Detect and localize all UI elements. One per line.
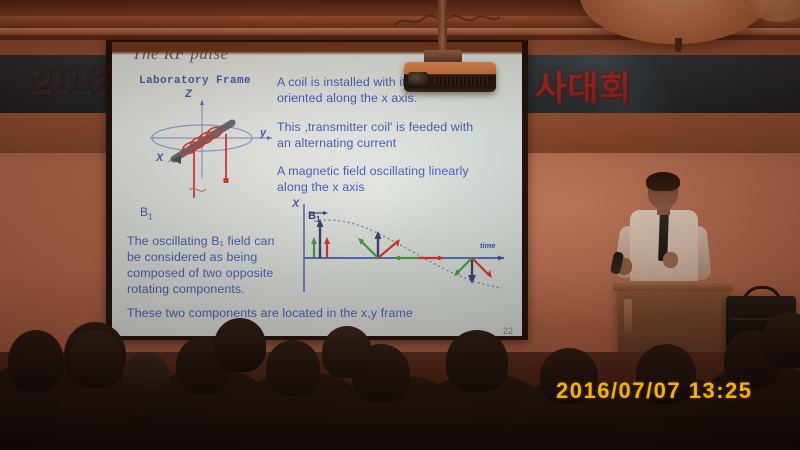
speaker-right-hand <box>663 252 678 268</box>
plot-b1-letter: B <box>308 210 316 222</box>
axis-label-x: X <box>156 152 163 164</box>
plot-vector-label-b1: B1 <box>308 210 320 224</box>
projector-vent <box>434 76 490 85</box>
audience-member <box>122 352 170 404</box>
audience-member <box>266 340 320 396</box>
podium-lamp <box>624 299 632 333</box>
audience-member <box>214 318 266 372</box>
b1-letter: B <box>140 205 148 219</box>
slide-page-number: 22 <box>503 326 513 336</box>
laboratory-frame-diagram: Z y X B1 <box>140 90 285 200</box>
slide-bullet-1: A coil is installed with its oriented al… <box>277 74 417 106</box>
audience-member <box>70 330 122 386</box>
plot-b1-subscript: 1 <box>316 215 320 224</box>
slide-left-paragraph: The oscillating B₁ field can be consider… <box>127 233 287 297</box>
slide-bullet-2: This ,transmitter coil' is feeded with a… <box>277 119 473 151</box>
dome-light-stem <box>675 38 682 52</box>
slide-diagram-label: Laboratory Frame <box>139 75 251 87</box>
audience-member <box>8 330 64 392</box>
plot-axis-label-x: X <box>292 198 299 210</box>
podium-top-surface <box>613 281 733 291</box>
camera-timestamp: 2016/07/07 13:25 <box>556 378 753 404</box>
projector-lens <box>408 72 428 85</box>
ceiling-ornament-icon <box>392 12 502 30</box>
b1-subscript: 1 <box>148 212 152 221</box>
slide-bullet-3: A magnetic field oscillating linearly al… <box>277 163 469 195</box>
axis-label-y: y <box>260 127 266 139</box>
plot-axis-label-time: time <box>480 241 495 250</box>
speaker-hair <box>646 172 680 191</box>
photo-frame: 2016 사대회 The RF pulse Laboratory Frame A… <box>0 0 800 450</box>
projector-mount-pole <box>438 0 447 52</box>
audience-member <box>446 330 508 392</box>
axis-label-b1: B1 <box>140 205 285 221</box>
oscillation-plot: X B1 time <box>290 196 515 311</box>
audience-member <box>322 326 372 378</box>
axis-label-z: Z <box>185 88 192 100</box>
